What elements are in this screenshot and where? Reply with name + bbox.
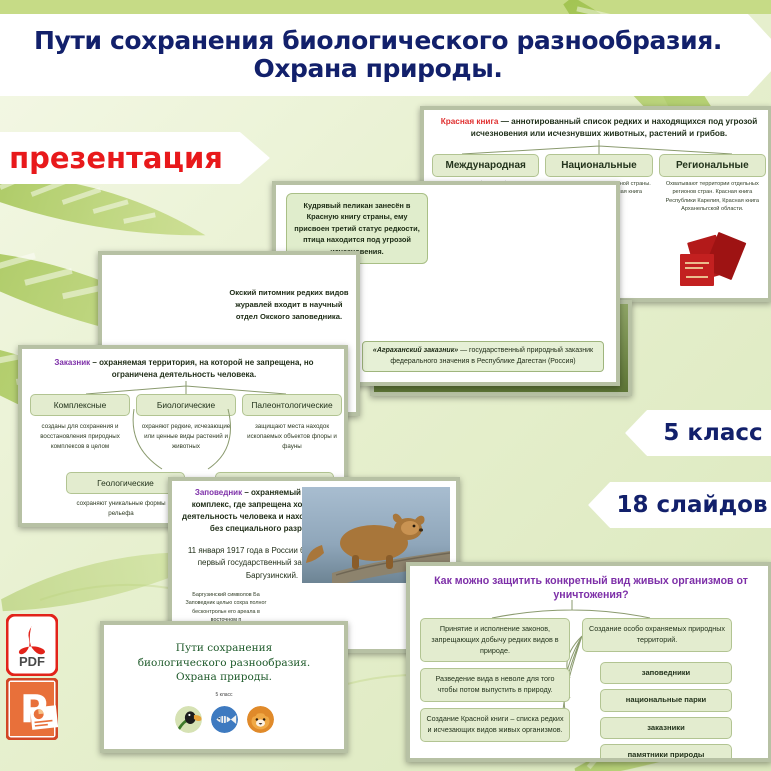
protect-right-item-1[interactable]: национальные парки: [600, 689, 732, 712]
tiger-icon: [247, 706, 274, 733]
red-book-books-image: [656, 230, 752, 292]
slide-title-grade: 5 класс: [215, 692, 232, 698]
red-book-definition: Красная книга — аннотированный список ре…: [434, 116, 764, 140]
protect-question: Как можно защитить конкретный вид живых …: [426, 574, 756, 603]
zapovednik-term: Заповедник: [195, 488, 242, 497]
slide-title-body: Пути сохранения биологического разнообра…: [104, 625, 344, 749]
fish-icon: [211, 706, 238, 733]
presentation-label: презентация: [9, 141, 249, 175]
slide-title-icon-row: [175, 706, 274, 733]
slide-title-heading: Пути сохранения биологического разнообра…: [138, 641, 311, 685]
zakaznik-definition-text: – охраняемая территория, на которой не з…: [90, 358, 313, 379]
red-book-caption-2: Охватывают территории отдельных регионов…: [659, 180, 766, 214]
pdf-icon-label: PDF: [6, 654, 58, 669]
zakaznik-caption-3: сохраняют уникальные формы рельефа: [66, 499, 176, 519]
badge-slide-count-label: 18 слайдов: [616, 492, 767, 518]
slide-title-page[interactable]: Пути сохранения биологического разнообра…: [100, 621, 348, 753]
zakaznik-term: Заказник: [54, 358, 90, 367]
pdf-file-icon[interactable]: PDF: [6, 614, 58, 676]
slide-title-line2: биологического разнообразия.: [138, 656, 311, 671]
badge-grade-label: 5 класс: [663, 420, 762, 446]
toucan-icon: [175, 706, 202, 733]
agrahan-caption: «Аграханский заказник» — государственный…: [362, 341, 604, 372]
agrahan-caption-term: «Аграханский заказник»: [373, 347, 458, 354]
protect-left-column: Принятие и исполнение законов, запрещающ…: [420, 618, 570, 748]
powerpoint-file-icon[interactable]: P: [6, 678, 58, 740]
slide-protect-species[interactable]: Как можно защитить конкретный вид живых …: [406, 562, 771, 762]
protect-right-column: Создание особо охраняемых природных терр…: [582, 618, 732, 758]
red-book-category-1[interactable]: Национальные: [545, 154, 652, 177]
zakaznik-definition: Заказник – охраняемая территория, на кот…: [34, 357, 334, 381]
page-title-ribbon: Пути сохранения биологического разнообра…: [0, 14, 771, 96]
presentation-ribbon: презентация: [0, 132, 270, 184]
slide-title-inner: Пути сохранения биологического разнообра…: [104, 625, 344, 749]
zakaznik-connectors-bottom: [30, 409, 342, 473]
protect-left-item-2[interactable]: Создание Красной книги – списка редких и…: [420, 708, 570, 742]
slide-protect-inner: Как можно защитить конкретный вид живых …: [410, 566, 768, 758]
protect-right-item-3[interactable]: памятники природы: [600, 744, 732, 758]
red-book-category-2[interactable]: Региональные: [659, 154, 766, 177]
slide-title-line1: Пути сохранения: [138, 641, 311, 656]
powerpoint-icon-shape: P: [6, 678, 58, 740]
red-book-category-0[interactable]: Международная: [432, 154, 539, 177]
badge-grade: 5 класс: [625, 410, 771, 456]
protect-left-item-1[interactable]: Разведение вида в неволе для того чтобы …: [420, 668, 570, 702]
protect-right-header[interactable]: Создание особо охраняемых природных терр…: [582, 618, 732, 652]
red-book-definition-text: — аннотированный список редких и находящ…: [471, 117, 757, 138]
page-title-line1: Пути сохранения биологического разнообра…: [34, 27, 722, 55]
zapovednik-barguzin-note: Баргузинский символов Ба Заповедник цель…: [182, 591, 270, 625]
badge-slide-count: 18 слайдов: [588, 482, 771, 528]
slide-title-line3: Охрана природы.: [138, 670, 311, 685]
red-book-category-row: Международная Национальные Региональные: [432, 154, 766, 177]
protect-right-item-2[interactable]: заказники: [600, 717, 732, 740]
page-title-line2: Охрана природы.: [34, 55, 722, 83]
protect-right-item-0[interactable]: заповедники: [600, 662, 732, 685]
red-book-term: Красная книга: [441, 117, 499, 126]
page-title: Пути сохранения биологического разнообра…: [34, 27, 738, 83]
protect-left-item-0[interactable]: Принятие и исполнение законов, запрещающ…: [420, 618, 570, 662]
crane-note: Окский питомник редких видов журавлей вх…: [226, 259, 352, 351]
